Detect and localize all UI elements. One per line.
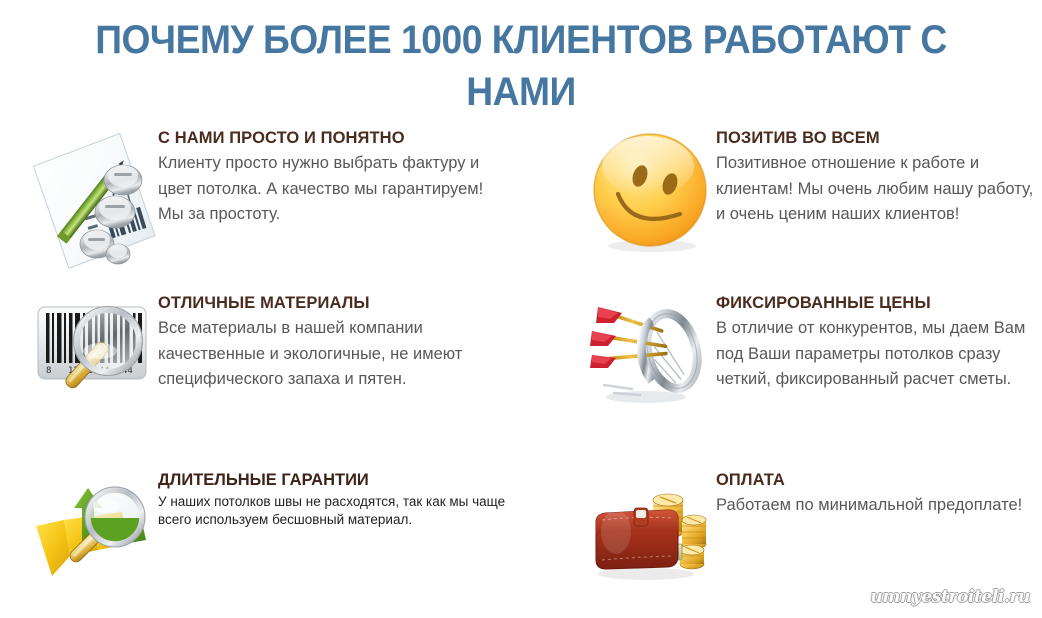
feature-title: ПОЗИТИВ ВО ВСЕМ — [716, 128, 1038, 149]
feature-body: Позитивное отношение к работе и клиентам… — [716, 151, 1038, 228]
document-pencil-icon — [30, 128, 158, 273]
feature-text: ОТЛИЧНЫЕ МАТЕРИАЛЫ Все материалы в нашей… — [158, 293, 510, 393]
feature-text: ПОЗИТИВ ВО ВСЕМ Позитивное отношение к р… — [716, 128, 1038, 228]
feature-body: Все материалы в нашей компании качествен… — [158, 316, 510, 393]
feature-block: ОПЛАТА Работаем по минимальной предоплат… — [588, 470, 1038, 590]
feature-text: ОПЛАТА Работаем по минимальной предоплат… — [716, 470, 1038, 519]
feature-title: ОПЛАТА — [716, 470, 1038, 491]
feature-text: ДЛИТЕЛЬНЫЕ ГАРАНТИИ У наших потолков швы… — [158, 470, 510, 529]
feature-block: ДЛИТЕЛЬНЫЕ ГАРАНТИИ У наших потолков швы… — [30, 470, 510, 590]
feature-text: ФИКСИРОВАННЫЕ ЦЕНЫ В отличие от конкурен… — [716, 293, 1038, 393]
feature-body: Работаем по минимальной предоплате! — [716, 493, 1038, 519]
page-title: ПОЧЕМУ БОЛЕЕ 1000 КЛИЕНТОВ РАБОТАЮТ С НА… — [36, 14, 1005, 118]
feature-title: ФИКСИРОВАННЫЕ ЦЕНЫ — [716, 293, 1038, 314]
growth-chart-magnifier-icon — [30, 470, 158, 590]
svg-text:8: 8 — [46, 366, 51, 376]
feature-body: В отличие от конкурентов, мы даем Вам по… — [716, 316, 1038, 393]
feature-body: Клиенту просто нужно выбрать фактуру и ц… — [158, 151, 510, 228]
site-watermark: umnyestroiteli.ru — [870, 587, 1030, 607]
feature-block: 812 324444 ОТЛИЧНЫЕ МАТЕРИАЛЫ Все матери… — [30, 293, 510, 413]
feature-block: С НАМИ ПРОСТО И ПОНЯТНО Клиенту просто н… — [30, 128, 510, 273]
feature-title: ДЛИТЕЛЬНЫЕ ГАРАНТИИ — [158, 470, 510, 491]
feature-block: ПОЗИТИВ ВО ВСЕМ Позитивное отношение к р… — [588, 128, 1038, 273]
feature-title: ОТЛИЧНЫЕ МАТЕРИАЛЫ — [158, 293, 510, 314]
features-grid: С НАМИ ПРОСТО И ПОНЯТНО Клиенту просто н… — [0, 118, 1042, 618]
barcode-magnifier-icon: 812 324444 — [30, 293, 158, 413]
arrows-target-icon — [588, 293, 716, 413]
feature-text: С НАМИ ПРОСТО И ПОНЯТНО Клиенту просто н… — [158, 128, 510, 228]
feature-block: ФИКСИРОВАННЫЕ ЦЕНЫ В отличие от конкурен… — [588, 293, 1038, 413]
feature-title: С НАМИ ПРОСТО И ПОНЯТНО — [158, 128, 510, 149]
smiley-face-icon — [588, 128, 716, 273]
wallet-coins-icon — [588, 470, 716, 590]
feature-body: У наших потолков швы не расходятся, так … — [158, 493, 510, 529]
